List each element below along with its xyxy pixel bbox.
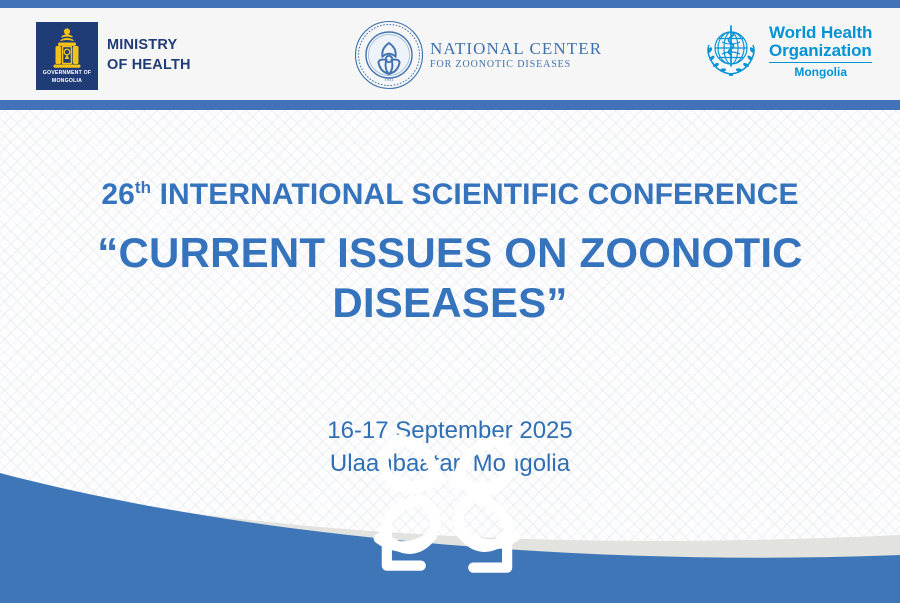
conference-ordinal-suffix: th <box>135 178 151 197</box>
conference-title-slide: GOVERNMENT OF MONGOLIA MINISTRY OF HEALT… <box>0 0 900 603</box>
seal-year: 1931 <box>384 77 394 82</box>
mongolia-state-emblem-soyombo: GOVERNMENT OF MONGOLIA <box>36 22 98 90</box>
nczd-name-line1: NATIONAL CENTER <box>430 40 602 58</box>
who-logo: World Health Organization Mongolia <box>700 20 872 82</box>
ministry-name-line1: MINISTRY <box>107 36 191 56</box>
conference-line-text: INTERNATIONAL SCIENTIFIC CONFERENCE <box>160 178 799 211</box>
emblem-caption-line2: MONGOLIA <box>36 78 98 84</box>
who-country: Mongolia <box>769 66 872 78</box>
header-divider-bar <box>0 100 900 110</box>
emblem-caption-line1: GOVERNMENT OF <box>36 70 98 76</box>
who-name-line2: Organization <box>769 42 872 59</box>
who-divider <box>769 62 872 64</box>
ministry-of-health-logo: GOVERNMENT OF MONGOLIA MINISTRY OF HEALT… <box>36 22 191 90</box>
who-name-line1: World Health <box>769 24 872 41</box>
nczd-name-line2: FOR ZOONOTIC DISEASES <box>430 60 602 71</box>
bottom-wave-decoration <box>0 443 900 603</box>
conference-ordinal: 26 <box>101 178 135 211</box>
page-title: “CURRENT ISSUES ON ZOONOTIC DISEASES” <box>60 228 840 327</box>
ministry-name-line2: OF HEALTH <box>107 56 191 76</box>
conference-ordinal-line: 26th INTERNATIONAL SCIENTIFIC CONFERENCE <box>0 178 900 212</box>
nczd-logo: 1931 NATIONAL CENTER FOR ZOONOTIC DISEAS… <box>352 18 602 92</box>
nczd-circular-seal-biohazard: 1931 <box>352 18 426 92</box>
who-un-wreath-asclepius-emblem <box>700 20 762 82</box>
top-accent-bar <box>0 0 900 8</box>
nczd-name: NATIONAL CENTER FOR ZOONOTIC DISEASES <box>430 40 602 70</box>
mongolian-ulzii-knot-ornament-right <box>0 427 882 587</box>
ministry-name: MINISTRY OF HEALTH <box>107 36 191 75</box>
soyombo-icon <box>47 27 87 73</box>
who-name: World Health Organization Mongolia <box>769 24 872 79</box>
